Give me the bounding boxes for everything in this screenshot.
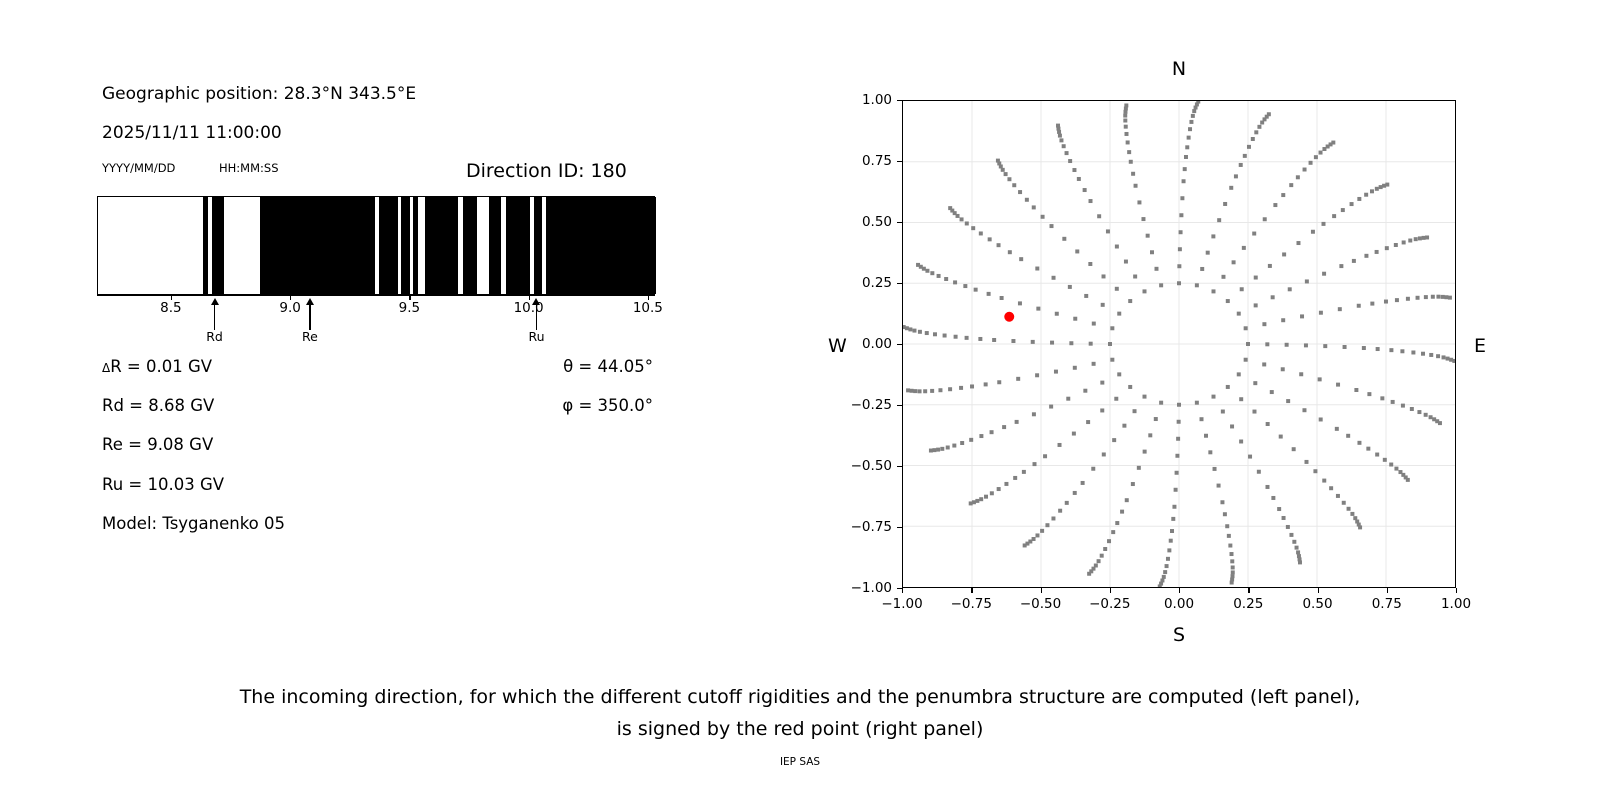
parameter-row: Rd = 8.68 GV [102, 396, 214, 415]
direction-dot [990, 430, 994, 434]
direction-dot [1331, 141, 1335, 145]
direction-dot [1004, 482, 1008, 486]
sky-y-tick [897, 100, 902, 101]
direction-dot [1100, 554, 1104, 558]
direction-dot [1302, 408, 1306, 412]
direction-dot [1004, 172, 1008, 176]
penumbra-band [546, 197, 656, 294]
direction-dot [1322, 222, 1326, 226]
direction-dot [1273, 203, 1277, 207]
sky-x-tick-label: 0.00 [1164, 596, 1194, 612]
datetime-text: 2025/11/11 11:00:00 [102, 123, 282, 143]
direction-dot [1112, 438, 1116, 442]
direction-dot [1110, 326, 1114, 330]
direction-dot [1083, 389, 1087, 393]
direction-dot [1262, 362, 1266, 366]
direction-dot [1394, 243, 1398, 247]
penumbra-band [534, 197, 541, 294]
direction-dot [1188, 127, 1192, 131]
direction-dot [1174, 488, 1178, 492]
direction-dot [953, 280, 957, 284]
direction-dot [1319, 417, 1323, 421]
direction-dot [1281, 318, 1285, 322]
direction-dot [1087, 572, 1091, 576]
direction-dot [1002, 425, 1006, 429]
direction-dot [1285, 343, 1289, 347]
direction-dot [1289, 183, 1293, 187]
direction-dot [1052, 276, 1056, 280]
direction-dot [1424, 295, 1428, 299]
direction-dot [1262, 322, 1266, 326]
direction-dot [1032, 412, 1036, 416]
direction-dot [1143, 395, 1147, 399]
direction-dot [1357, 304, 1361, 308]
direction-dot [1223, 512, 1227, 516]
direction-dot [1179, 230, 1183, 234]
direction-dot [908, 327, 912, 331]
direction-dot [1089, 199, 1093, 203]
direction-dot [1123, 119, 1127, 123]
direction-dot [1114, 397, 1118, 401]
sky-y-tick [897, 405, 902, 406]
direction-dot [1125, 132, 1129, 136]
direction-dot [1150, 250, 1154, 254]
direction-dot [1253, 381, 1257, 385]
direction-dot [1362, 346, 1366, 350]
direction-dot [1422, 236, 1426, 240]
direction-dot [1102, 452, 1106, 456]
direction-dot [1212, 395, 1216, 399]
selected-direction-dot [1004, 312, 1014, 322]
direction-dot [1068, 285, 1072, 289]
direction-dot [1143, 450, 1147, 454]
direction-dot [1263, 217, 1267, 221]
compass-label-west: W [828, 335, 847, 357]
sky-x-tick [1318, 588, 1319, 593]
direction-dot [910, 389, 914, 393]
direction-dot [1417, 410, 1421, 414]
direction-dot [1072, 168, 1076, 172]
direction-dot [1128, 385, 1132, 389]
direction-dot [1182, 179, 1186, 183]
direction-dot [1265, 342, 1269, 346]
direction-dot [1007, 177, 1011, 181]
direction-dot [1268, 264, 1272, 268]
direction-dot [1346, 434, 1350, 438]
sky-y-tick-label: −0.50 [840, 458, 892, 474]
direction-dot [1195, 283, 1199, 287]
direction-dot [1110, 358, 1114, 362]
penumbra-band [489, 197, 501, 294]
direction-dot [918, 389, 922, 393]
direction-dot [1191, 114, 1195, 118]
direction-dot [1299, 372, 1303, 376]
parameter-row: Ru = 10.03 GV [102, 475, 224, 494]
direction-dot [1438, 421, 1442, 425]
direction-dot [1097, 214, 1101, 218]
direction-dot [1252, 232, 1256, 236]
sky-x-tick-label: −1.00 [881, 596, 922, 612]
sky-x-tick [1041, 588, 1042, 593]
direction-dot [1148, 433, 1152, 437]
penumbra-band [260, 197, 374, 294]
direction-dot [1200, 267, 1204, 271]
direction-dot [1248, 455, 1252, 459]
direction-dot [930, 271, 934, 275]
direction-dot [1246, 342, 1250, 346]
direction-dot [1271, 295, 1275, 299]
direction-dot [1184, 155, 1188, 159]
direction-dot [1117, 372, 1121, 376]
direction-dot [1347, 507, 1351, 511]
direction-dot [1211, 234, 1215, 238]
compass-label-north: N [1172, 58, 1186, 80]
direction-dot [979, 434, 983, 438]
direction-dot [1062, 237, 1066, 241]
direction-dot [1375, 453, 1379, 457]
direction-dot [1391, 400, 1395, 404]
direction-dot [1083, 188, 1087, 192]
direction-dot [1035, 533, 1039, 537]
delta-symbol: Δ [102, 361, 110, 375]
direction-dot [923, 389, 927, 393]
direction-dot [1230, 552, 1234, 556]
direction-dot [1217, 218, 1221, 222]
direction-dot [1282, 516, 1286, 520]
direction-dot [916, 263, 920, 267]
direction-dot [990, 491, 994, 495]
direction-dot [1341, 208, 1345, 212]
direction-dot [965, 221, 969, 225]
direction-dot [1117, 312, 1121, 316]
sky-x-tick-label: −0.50 [1020, 596, 1061, 612]
sky-x-tick [1387, 588, 1388, 593]
direction-dot [1271, 496, 1275, 500]
direction-dot [1091, 467, 1095, 471]
direction-dot [992, 338, 996, 342]
direction-dot [1305, 460, 1309, 464]
direction-dot [940, 447, 944, 451]
direction-dot [1254, 130, 1258, 134]
direction-dot [1281, 367, 1285, 371]
direction-dot [903, 325, 906, 329]
direction-dot [1229, 186, 1233, 190]
direction-dot [1364, 254, 1368, 258]
direction-dot [933, 332, 937, 336]
direction-dot [918, 330, 922, 334]
rigidity-tick-label: 9.0 [279, 300, 300, 316]
direction-dot [978, 337, 982, 341]
direction-dot [1289, 533, 1293, 537]
direction-dot [1339, 264, 1343, 268]
direction-dot [1296, 550, 1300, 554]
direction-dot [1123, 114, 1127, 118]
direction-dot [974, 288, 978, 292]
direction-dot [1251, 137, 1255, 141]
direction-dot [987, 292, 991, 296]
caption-line-1: The incoming direction, for which the di… [0, 686, 1600, 708]
direction-dot [1127, 150, 1131, 154]
direction-dot [1379, 185, 1383, 189]
direction-dot [1446, 357, 1450, 361]
direction-dot [1068, 159, 1072, 163]
direction-dot [1035, 373, 1039, 377]
direction-dot [1350, 202, 1354, 206]
direction-dot [1323, 344, 1327, 348]
direction-dot [1092, 362, 1096, 366]
direction-dot [1124, 260, 1128, 264]
direction-dot [1206, 251, 1210, 255]
direction-dot [1111, 530, 1115, 534]
direction-dot [1416, 296, 1420, 300]
angle-row: θ = 44.05° [400, 357, 653, 376]
direction-dot [1424, 413, 1428, 417]
direction-dot [1385, 183, 1389, 187]
sky-y-tick-label: 0.50 [840, 214, 892, 230]
direction-dot [1159, 401, 1163, 405]
direction-dot [1146, 234, 1150, 238]
direction-dot [1124, 103, 1128, 107]
direction-dot [1343, 345, 1347, 349]
compass-label-east: E [1474, 335, 1486, 357]
direction-dot [1232, 260, 1236, 264]
sky-map-plot-area [903, 101, 1455, 587]
sky-y-tick-label: −0.25 [840, 397, 892, 413]
direction-dot [1358, 525, 1362, 529]
direction-dot [988, 237, 992, 241]
direction-dot [1314, 155, 1318, 159]
penumbra-band [506, 197, 530, 294]
direction-dot [1448, 296, 1452, 300]
direction-dot [1177, 281, 1181, 285]
direction-dot [1305, 279, 1309, 283]
time-format-hint: HH:MM:SS [219, 161, 279, 175]
direction-dot [1436, 354, 1440, 358]
direction-dot [1162, 575, 1166, 579]
direction-dot [1137, 200, 1141, 204]
direction-dot [1018, 190, 1022, 194]
direction-dot [1097, 559, 1101, 563]
direction-dot [1043, 454, 1047, 458]
direction-dot [1049, 405, 1053, 409]
direction-dot [1244, 358, 1248, 362]
direction-dot [1389, 348, 1393, 352]
direction-dot [1171, 517, 1175, 521]
direction-dot [1230, 581, 1234, 585]
direction-dot [1175, 454, 1179, 458]
direction-dot [1231, 565, 1235, 569]
direction-dot [1124, 125, 1128, 129]
parameter-row: Re = 9.08 GV [102, 435, 213, 454]
direction-dot [1406, 297, 1410, 301]
direction-dot [929, 449, 933, 453]
direction-dot [1169, 539, 1173, 543]
direction-dot [1411, 350, 1415, 354]
direction-dot [960, 441, 964, 445]
sky-y-tick [897, 466, 902, 467]
direction-dot [1240, 287, 1244, 291]
direction-dot [1163, 570, 1167, 574]
direction-dot [1213, 467, 1217, 471]
sky-y-tick [897, 222, 902, 223]
direction-dot [1402, 240, 1406, 244]
direction-dot [960, 217, 964, 221]
direction-dot [1133, 275, 1137, 279]
direction-dot [1177, 264, 1181, 268]
direction-dot [1383, 458, 1387, 462]
direction-dot [1204, 434, 1208, 438]
direction-dot [944, 277, 948, 281]
direction-dot [1352, 259, 1356, 263]
sky-y-tick-label: 0.25 [840, 275, 892, 291]
direction-dot [1408, 239, 1412, 243]
direction-dot [1237, 312, 1241, 316]
direction-dot [1335, 427, 1339, 431]
direction-dot [1081, 481, 1085, 485]
direction-dot [1131, 482, 1135, 486]
direction-dot [984, 382, 988, 386]
direction-dot [1429, 415, 1433, 419]
sky-x-tick-label: −0.75 [951, 596, 992, 612]
direction-dot [1101, 303, 1105, 307]
direction-dot [1375, 187, 1379, 191]
direction-dot [1032, 205, 1036, 209]
direction-dot [1221, 275, 1225, 279]
direction-dot [1350, 512, 1354, 516]
sky-x-tick [1179, 588, 1180, 593]
direction-dot [1322, 272, 1326, 276]
direction-dot [971, 226, 975, 230]
rigidity-axis-line [97, 295, 655, 296]
penumbra-band [212, 197, 224, 294]
direction-dot [1304, 343, 1308, 347]
direction-dot [1035, 267, 1039, 271]
direction-dot [952, 444, 956, 448]
grid-lines [903, 101, 1455, 587]
direction-dot [1295, 546, 1299, 550]
direction-dot [1239, 163, 1243, 167]
direction-dot [1179, 213, 1183, 217]
sky-x-tick [902, 588, 903, 593]
direction-dot [1257, 470, 1261, 474]
compass-label-south: S [1173, 624, 1185, 646]
direction-dot [969, 438, 973, 442]
sky-x-tick [971, 588, 972, 593]
direction-dot [979, 231, 983, 235]
direction-dot [1166, 557, 1170, 561]
direction-dot [1075, 249, 1079, 253]
sky-x-tick-label: −0.25 [1089, 596, 1130, 612]
direction-dot [1370, 189, 1374, 193]
direction-dot [1242, 246, 1246, 250]
direction-dot [1436, 295, 1440, 299]
direction-dot [1252, 410, 1256, 414]
direction-dot [1187, 136, 1191, 140]
direction-dot [984, 495, 988, 499]
direction-dot [1143, 289, 1147, 293]
direction-dot [1406, 478, 1410, 482]
direction-dot [1086, 420, 1090, 424]
direction-dot [1282, 252, 1286, 256]
cutoff-arrow-head [306, 298, 314, 305]
direction-dot [1073, 366, 1077, 370]
direction-dot [1342, 501, 1346, 505]
direction-dot [912, 329, 916, 333]
direction-dot [1309, 161, 1313, 165]
penumbra-band [425, 197, 458, 294]
direction-dot [1441, 295, 1445, 299]
cutoff-arrow-label: Ru [528, 329, 544, 344]
direction-dot [937, 274, 941, 278]
direction-dot [1159, 283, 1163, 287]
direction-dot [1106, 229, 1110, 233]
direction-dot [1031, 340, 1035, 344]
direction-dot [1230, 424, 1234, 428]
direction-dot [963, 284, 967, 288]
direction-dot [1239, 397, 1243, 401]
direction-dot [997, 487, 1001, 491]
direction-dot [930, 389, 934, 393]
direction-dot [1036, 307, 1040, 311]
sky-y-tick-label: −0.75 [840, 519, 892, 535]
direction-dot [1134, 184, 1138, 188]
sky-y-tick [897, 283, 902, 284]
direction-dot [1073, 317, 1077, 321]
direction-dot [1319, 311, 1323, 315]
sky-x-tick [1248, 588, 1249, 593]
direction-dot [1311, 230, 1315, 234]
direction-dot [959, 386, 963, 390]
direction-dot [1292, 447, 1296, 451]
direction-dot [1013, 476, 1017, 480]
direction-dot [1065, 151, 1069, 155]
direction-dot [1012, 183, 1016, 187]
direction-dot [1000, 296, 1004, 300]
direction-dot [1158, 584, 1162, 587]
direction-dot [1177, 403, 1181, 407]
direction-dot [1019, 257, 1023, 261]
direction-dot [1370, 302, 1374, 306]
direction-dot [1103, 547, 1107, 551]
direction-dot [1107, 539, 1111, 543]
direction-dot [1270, 390, 1274, 394]
direction-dot [1180, 196, 1184, 200]
penumbra-band [413, 197, 418, 294]
direction-dot [1088, 262, 1092, 266]
direction-dot [1170, 529, 1174, 533]
direction-dot [1357, 197, 1361, 201]
direction-dot [1196, 101, 1200, 104]
direction-dot [1212, 289, 1216, 293]
direction-dot [1313, 469, 1317, 473]
cutoff-arrow-label: Re [302, 329, 318, 344]
direction-dot [1033, 462, 1037, 466]
direction-dot [1023, 543, 1027, 547]
direction-dot [1154, 267, 1158, 271]
direction-dot [1281, 193, 1285, 197]
direction-dot [1226, 385, 1230, 389]
direction-dot [1452, 359, 1455, 363]
direction-dot [1056, 124, 1060, 128]
direction-dot [1077, 177, 1081, 181]
direction-dot [1410, 407, 1414, 411]
caption-line-2: is signed by the red point (right panel) [0, 718, 1600, 740]
direction-dot [1126, 140, 1130, 144]
direction-dot [1234, 174, 1238, 178]
direction-dot [1165, 564, 1169, 568]
direction-dot [1059, 138, 1063, 142]
direction-dot [1115, 287, 1119, 291]
